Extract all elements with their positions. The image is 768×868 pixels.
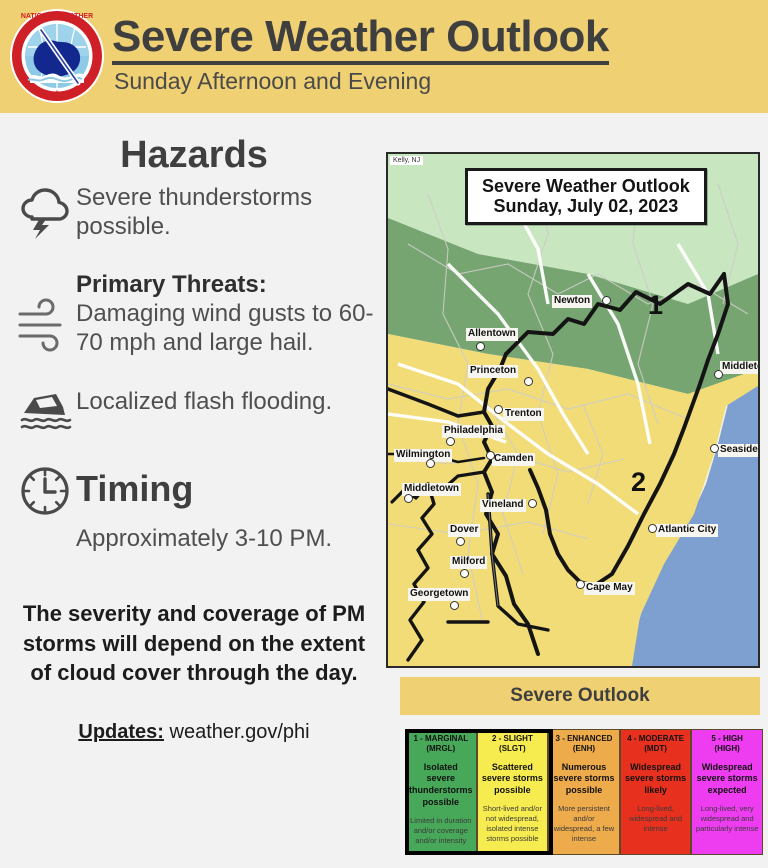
risk-number-1: 1 — [648, 290, 663, 321]
city-label: Philadelphia — [442, 425, 505, 438]
city-label: Dover — [448, 524, 480, 537]
thunderstorm-icon — [14, 183, 76, 239]
legend-main-text: Widespread severe storms likely — [624, 762, 688, 797]
legend-cell-moderate[interactable]: 4 - MODERATE (MDT) Widespread severe sto… — [620, 729, 692, 855]
hazard-text-wind: Damaging wind gusts to 60-70 mph and lar… — [76, 299, 388, 358]
legend-abbrev: (HIGH) — [695, 744, 759, 754]
severe-outlook-label: Severe Outlook — [510, 685, 649, 707]
legend-sub-text: More persistent and/or widespread, a few… — [552, 804, 616, 845]
city-label: Atlantic City — [656, 524, 718, 537]
legend-cell-high[interactable]: 5 - HIGH (HIGH) Widespread severe storms… — [691, 729, 763, 855]
clock-icon — [14, 459, 76, 519]
legend-sub-text: Long-lived, very widespread and particul… — [695, 804, 759, 834]
legend-title: 1 - MARGINAL — [409, 734, 473, 744]
legend-abbrev: (ENH) — [552, 744, 616, 754]
legend-title: 2 - SLIGHT — [481, 734, 545, 744]
map-corner-label: Kelly, NJ — [390, 156, 423, 165]
city-label: Princeton — [468, 365, 518, 378]
hazards-panel: Hazards Severe thunderstorms possible. — [0, 118, 388, 868]
city-label: Middletown — [402, 483, 461, 496]
updates-url[interactable]: weather.gov/phi — [170, 721, 310, 743]
hazard-text-flooding: Localized flash flooding. — [76, 387, 332, 416]
city-label: Georgetown — [408, 588, 470, 601]
wind-icon — [14, 270, 76, 354]
header-banner: NATIONAL WEATHER Severe Weather Outlook … — [0, 0, 768, 113]
legend-abbrev: (SLGT) — [481, 744, 545, 754]
legend-cell-slight[interactable]: 2 - SLIGHT (SLGT) Scattered severe storm… — [477, 729, 549, 855]
legend-abbrev: (MDT) — [624, 744, 688, 754]
hazards-heading: Hazards — [0, 134, 388, 177]
updates-line: Updates: weather.gov/phi — [0, 721, 388, 744]
map-title-line1: Severe Weather Outlook — [482, 176, 690, 196]
hazard-item-flooding: Localized flash flooding. — [14, 387, 388, 433]
hazard-lead-wind: Primary Threats: — [76, 270, 388, 299]
primary-threats-colon: : — [259, 271, 267, 298]
city-label: Newton — [552, 295, 592, 308]
legend-abbrev: (MRGL) — [409, 744, 473, 754]
page-title: Severe Weather Outlook — [112, 14, 609, 65]
nws-logo: NATIONAL WEATHER — [8, 6, 106, 106]
city-label: Camden — [492, 453, 535, 466]
primary-threats-label: Primary Threats — [76, 271, 259, 298]
legend-title: 3 - ENHANCED — [552, 734, 616, 744]
legend-main-text: Isolated severe thunderstorms possible — [409, 762, 473, 809]
city-label: Vineland — [480, 499, 526, 512]
legend-title: 4 - MODERATE — [624, 734, 688, 744]
city-label: Seaside He — [718, 444, 760, 457]
header-title-group: Severe Weather Outlook Sunday Afternoon … — [112, 14, 712, 94]
map-title-line2: Sunday, July 02, 2023 — [482, 196, 690, 216]
city-label: Middletown — [720, 361, 760, 374]
risk-category-legend: 1 - MARGINAL (MRGL) Isolated severe thun… — [405, 729, 763, 855]
legend-main-text: Numerous severe storms possible — [552, 762, 616, 797]
severe-weather-outlook-graphic: NATIONAL WEATHER Severe Weather Outlook … — [0, 0, 768, 868]
updates-label: Updates: — [78, 721, 164, 743]
map-title-box: Severe Weather Outlook Sunday, July 02, … — [465, 168, 707, 225]
hazard-item-wind: Primary Threats: Damaging wind gusts to … — [14, 270, 388, 358]
timing-section: Timing — [14, 459, 388, 519]
city-label: Milford — [450, 556, 487, 569]
severe-outlook-band: Severe Outlook — [400, 677, 760, 715]
page-subtitle: Sunday Afternoon and Evening — [114, 69, 712, 94]
legend-sub-text: Short-lived and/or not widespread, isola… — [481, 804, 545, 845]
legend-sub-text: Limited in duration and/or coverage and/… — [409, 816, 473, 846]
city-label: Allentown — [466, 328, 518, 341]
outlook-map[interactable]: Kelly, NJ Severe Weather Outlook Sunday,… — [386, 152, 760, 668]
legend-title: 5 - HIGH — [695, 734, 759, 744]
flooded-car-icon — [14, 387, 76, 433]
severity-note: The severity and coverage of PM storms w… — [22, 599, 366, 687]
legend-main-text: Widespread severe storms expected — [695, 762, 759, 797]
city-label: Trenton — [503, 408, 544, 421]
timing-heading: Timing — [76, 471, 193, 507]
hazard-text-thunderstorm: Severe thunderstorms possible. — [76, 183, 388, 242]
legend-cell-marginal[interactable]: 1 - MARGINAL (MRGL) Isolated severe thun… — [405, 729, 477, 855]
legend-cell-enhanced[interactable]: 3 - ENHANCED (ENH) Numerous severe storm… — [548, 729, 620, 855]
city-label: Cape May — [584, 582, 635, 595]
timing-detail: Approximately 3-10 PM. — [76, 525, 388, 553]
svg-text:NATIONAL WEATHER: NATIONAL WEATHER — [21, 13, 93, 20]
hazard-item-thunderstorm: Severe thunderstorms possible. — [14, 183, 388, 242]
legend-sub-text: Long-lived, widespread and intense — [624, 804, 688, 834]
risk-number-2: 2 — [631, 467, 646, 498]
legend-main-text: Scattered severe storms possible — [481, 762, 545, 797]
city-label: Wilmington — [394, 449, 452, 462]
